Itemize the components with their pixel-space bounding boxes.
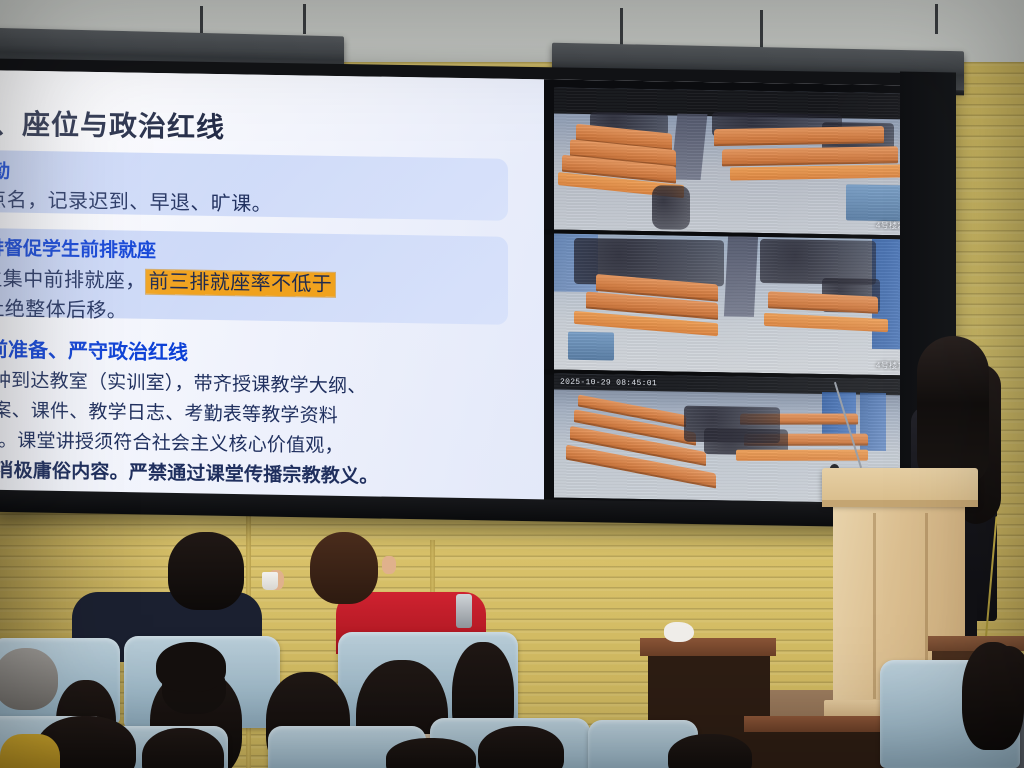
paper-cup-1: [262, 572, 278, 590]
audience-head-gray: [0, 648, 58, 710]
slide-section3-line3: 大件）。课堂讲授须符合社会主义核心价值观，: [0, 425, 344, 459]
audience-table-1: [640, 638, 776, 656]
slide-section2-heading: 安排督促学生前排就座: [0, 233, 156, 263]
audience-hair-right-2: [962, 642, 1024, 750]
audience-hand-2: [382, 556, 396, 574]
slide-section2-body-a: 学生集中前排就座，前三排就座率不低于: [0, 262, 335, 297]
podium-top: [822, 468, 978, 504]
tissue-1: [664, 622, 694, 642]
cctv-feed-1-image: 4号楼204-1: [554, 88, 926, 236]
cctv-feed-2-image: 4号楼102-1: [554, 234, 926, 376]
light-hanger-5: [935, 4, 938, 34]
light-hanger-4: [760, 10, 763, 50]
audience-hair-front-5: [668, 734, 752, 768]
cctv-feed-3-timestamp: 2025-10-29 08:45:01: [560, 378, 657, 389]
slide-section2-body-b: ，杜绝整体后移。: [0, 292, 127, 324]
light-hanger-2: [303, 4, 306, 34]
podium-top-edge: [822, 500, 978, 507]
section2-text-a: 学生集中前排就座，: [0, 268, 146, 293]
hall-seatrow-1e: [722, 146, 898, 166]
hall-equipment-cart-2: [568, 332, 614, 361]
water-bottle: [456, 594, 472, 628]
audience-head-bald: [156, 642, 226, 692]
cctv-feed-2: 4号楼102-1: [554, 234, 926, 376]
slide-section1-body: 课点名，记录迟到、早退、旷课。: [0, 183, 272, 217]
audience-table-2-body: [750, 732, 888, 768]
slide-highlight: 前三排就座率不低于: [146, 270, 336, 297]
hall-seatrow-1d: [714, 126, 884, 146]
slide-section3-heading: 课前准备、严守政治红线: [0, 333, 188, 366]
cctv-feed-1: 4号楼204-1: [554, 88, 926, 236]
slide-section3-line2: 、教案、课件、教学日志、考勤表等教学资料: [0, 395, 338, 428]
hall-person-standing-1: [652, 185, 690, 230]
presenter-hair: [917, 336, 989, 486]
hall-deskrow-3a: [736, 450, 868, 461]
audience-table-2: [744, 716, 894, 732]
audience-body-yellow: [0, 734, 60, 768]
lecture-hall-photo: 勤、座位与政治红线 考勤 课点名，记录迟到、早退、旷课。 安排督促学生前排就座 …: [0, 0, 1024, 768]
slide-title: 勤、座位与政治红线: [0, 102, 225, 146]
light-hanger-1: [200, 6, 203, 36]
audience-head-back-2: [310, 532, 378, 604]
cctv-panel: 4号楼204-1: [544, 79, 934, 511]
presentation-slide: 勤、座位与政治红线 考勤 课点名，记录迟到、早退、旷课。 安排督促学生前排就座 …: [0, 70, 544, 505]
hall-equipment-cart-1: [846, 184, 902, 221]
audience-head-back-1: [168, 532, 244, 610]
slide-section1-heading: 考勤: [0, 156, 10, 184]
audience-hair-front-3: [386, 738, 476, 768]
audience-hair-front-4: [478, 726, 564, 768]
hall-aisle-2: [724, 236, 758, 316]
projection-screen: 勤、座位与政治红线 考勤 课点名，记录迟到、早退、旷课。 安排督促学生前排就座 …: [0, 70, 934, 512]
audience: 学院: [0, 520, 1024, 768]
